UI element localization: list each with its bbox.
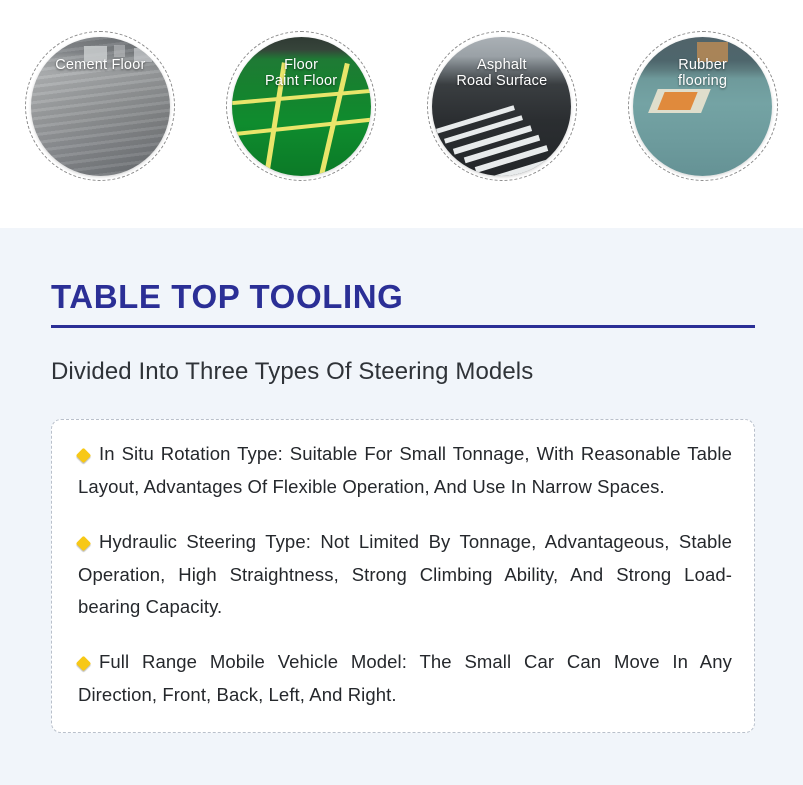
- diamond-bullet-icon: [76, 535, 92, 551]
- surface-types-band: Cement Floor Floor Paint Floor: [0, 0, 803, 228]
- diamond-bullet-icon: [76, 656, 92, 672]
- table-top-tooling-section: TABLE TOP TOOLING Divided Into Three Typ…: [0, 228, 803, 785]
- diamond-bullet-icon: [76, 448, 92, 464]
- note-text: Hydraulic Steering Type: Not Limited By …: [78, 531, 732, 618]
- note-text: Full Range Mobile Vehicle Model: The Sma…: [78, 651, 732, 705]
- section-subtitle: Divided Into Three Types Of Steering Mod…: [51, 328, 755, 387]
- note-item-hydraulic-steering: Hydraulic Steering Type: Not Limited By …: [74, 526, 732, 625]
- floor-paint-photo: [232, 37, 371, 176]
- cement-floor-photo: [31, 37, 170, 176]
- surface-types-row: Cement Floor Floor Paint Floor: [0, 31, 803, 181]
- page-root: Cement Floor Floor Paint Floor: [0, 0, 803, 785]
- note-item-in-situ-rotation: In Situ Rotation Type: Suitable For Smal…: [74, 438, 732, 504]
- note-item-full-range-mobile: Full Range Mobile Vehicle Model: The Sma…: [74, 646, 732, 712]
- surface-item-cement-floor[interactable]: Cement Floor: [25, 31, 175, 181]
- steering-models-box: In Situ Rotation Type: Suitable For Smal…: [51, 419, 755, 733]
- page-title: TABLE TOP TOOLING: [51, 228, 755, 313]
- surface-item-floor-paint[interactable]: Floor Paint Floor: [226, 31, 376, 181]
- asphalt-road-photo: [432, 37, 571, 176]
- note-text: In Situ Rotation Type: Suitable For Smal…: [78, 443, 732, 497]
- surface-item-asphalt-road[interactable]: Asphalt Road Surface: [427, 31, 577, 181]
- rubber-flooring-photo: [633, 37, 772, 176]
- surface-item-rubber-flooring[interactable]: Rubber flooring: [628, 31, 778, 181]
